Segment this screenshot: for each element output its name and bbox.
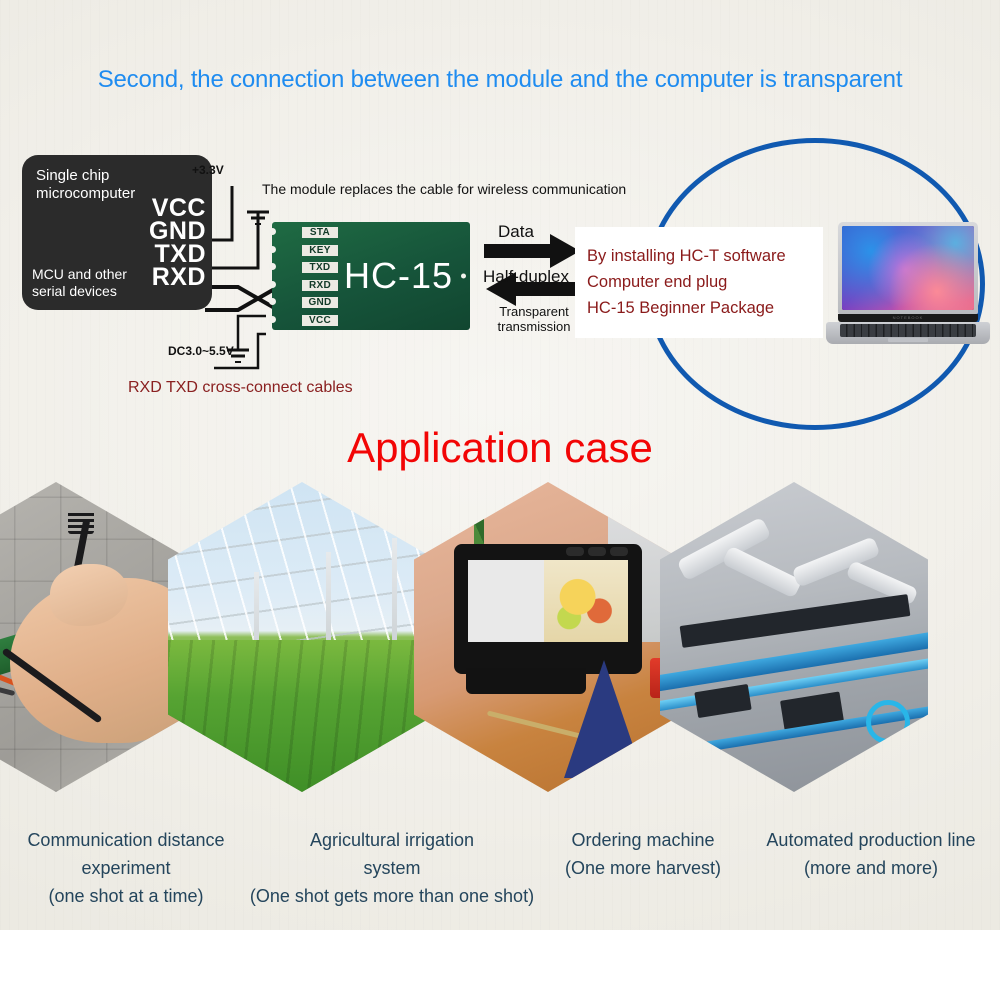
caption-line-1: Communication distance (0, 826, 252, 854)
antenna-coil (68, 510, 94, 534)
case-image-greenhouse (168, 482, 436, 792)
blue-napkin (564, 660, 644, 778)
bottom-white-strip (0, 930, 1000, 1000)
case-image-ordering-machine (414, 482, 682, 792)
hc15-module-board: STA KEY TXD RXD GND VCC HC-15 (272, 222, 470, 330)
board-pin-key: KEY (302, 245, 338, 256)
tablet-button (566, 547, 584, 556)
board-pin-vcc: VCC (302, 315, 338, 326)
caption-production-line: Automated production line (more and more… (742, 826, 1000, 882)
board-pad (269, 298, 276, 305)
label-cross-connect: RXD TXD cross-connect cables (128, 379, 353, 397)
callout-line-3: HC-15 Beginner Package (575, 295, 823, 321)
caption-line-3: (One shot gets more than one shot) (232, 882, 552, 910)
board-notch (461, 274, 466, 279)
page-headline: Second, the connection between the modul… (0, 66, 1000, 94)
board-pin-sta: STA (302, 227, 338, 238)
callout-line-1: By installing HC-T software (575, 243, 823, 269)
caption-line-2: experiment (0, 854, 252, 882)
laptop-lid (838, 222, 978, 314)
caption-line-2: system (232, 854, 552, 882)
laptop-keyboard (840, 324, 976, 337)
mcu-title: Single chip microcomputer (36, 167, 135, 203)
label-supply-3v3: +3.3V (192, 163, 224, 177)
label-module-caption: The module replaces the cable for wirele… (262, 181, 626, 197)
mcu-subtitle: MCU and other serial devices (32, 266, 127, 300)
indicator-ring (866, 700, 910, 744)
laptop-wallpaper (842, 226, 974, 310)
board-pin-labels: STA KEY TXD RXD GND VCC (302, 227, 338, 332)
laptop-base (826, 322, 990, 344)
tablet-button (588, 547, 606, 556)
tablet-button (610, 547, 628, 556)
software-callout-box: By installing HC-T software Computer end… (575, 227, 823, 338)
label-tt-line1: Transparent (488, 304, 580, 319)
case-image-production-line (660, 482, 928, 792)
board-pin-gnd: GND (302, 297, 338, 308)
board-pad (269, 228, 276, 235)
board-pin-rxd: RXD (302, 280, 338, 291)
application-case-title: Application case (0, 424, 1000, 472)
laptop-screen (842, 226, 974, 310)
food-photo (544, 560, 628, 642)
caption-line-3: (one shot at a time) (0, 882, 252, 910)
case-image-communication-distance (0, 482, 190, 792)
mcu-block: Single chip microcomputer VCC GND TXD RX… (22, 155, 212, 310)
mcu-title-line1: Single chip microcomputer (36, 167, 135, 202)
greenhouse-grass (168, 640, 436, 792)
board-pad (269, 316, 276, 323)
caption-ordering-machine: Ordering machine (One more harvest) (528, 826, 758, 882)
caption-line-1: Ordering machine (528, 826, 758, 854)
board-pad-column (264, 228, 280, 333)
mcu-pin-list: VCC GND TXD RXD (149, 197, 206, 289)
label-transparent-transmission: Transparent transmission (488, 304, 580, 334)
board-pad (269, 246, 276, 253)
caption-line-2: (more and more) (742, 854, 1000, 882)
caption-line-2: (One more harvest) (528, 854, 758, 882)
label-half-duplex: Half-duplex (483, 267, 569, 287)
callout-line-2: Computer end plug (575, 269, 823, 295)
application-case-gallery (0, 478, 1000, 808)
caption-line-1: Agricultural irrigation (232, 826, 552, 854)
board-pin-txd: TXD (302, 262, 338, 273)
ordering-tablet (454, 544, 642, 674)
laptop-brand-label: NOTEBOOK (826, 314, 990, 322)
tablet-screen (468, 560, 628, 642)
board-pad (269, 281, 276, 288)
caption-agricultural-irrigation: Agricultural irrigation system (One shot… (232, 826, 552, 910)
label-tt-line2: transmission (488, 319, 580, 334)
laptop-illustration: NOTEBOOK (826, 222, 990, 344)
caption-line-1: Automated production line (742, 826, 1000, 854)
label-data: Data (498, 222, 534, 242)
mcu-pin-rxd: RXD (149, 266, 206, 289)
board-name-label: HC-15 (344, 255, 453, 297)
label-supply-dc: DC3.0~5.5V (168, 344, 234, 358)
laptop-trackpad (888, 338, 928, 342)
board-pad (269, 263, 276, 270)
caption-communication-distance: Communication distance experiment (one s… (0, 826, 252, 910)
